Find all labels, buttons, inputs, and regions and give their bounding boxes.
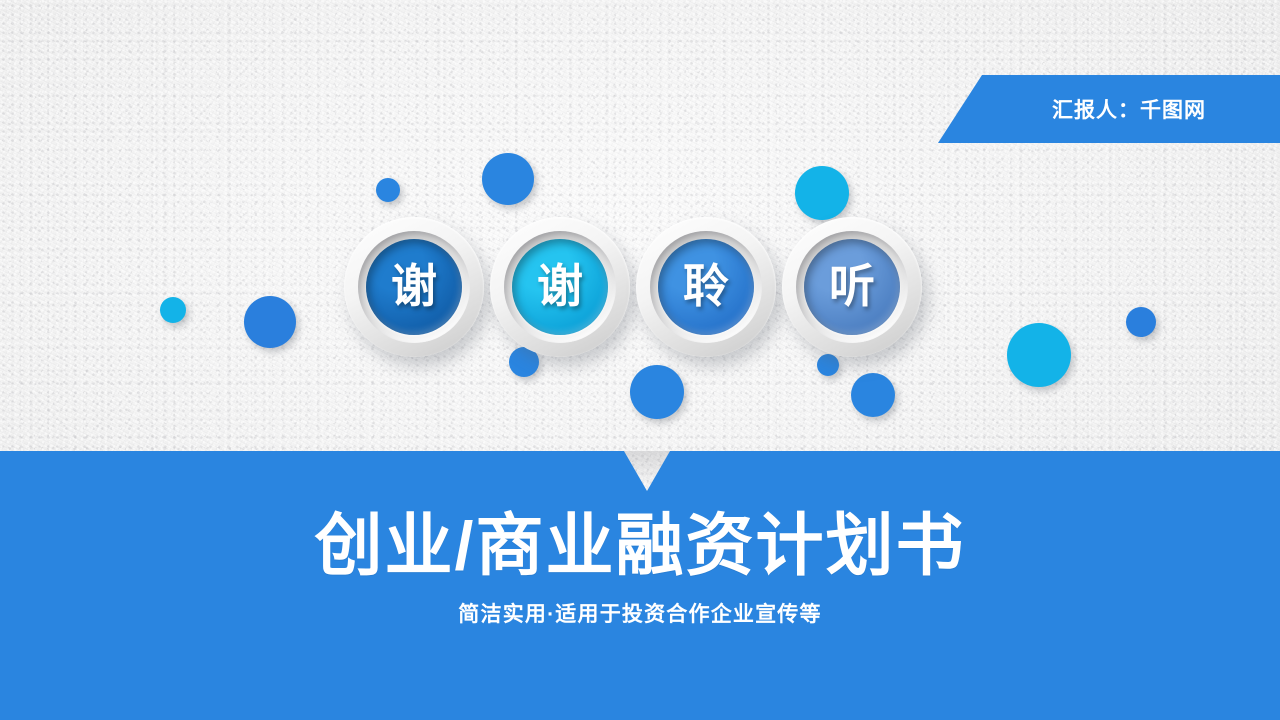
thanks-badge-4: 听 xyxy=(782,217,922,357)
thanks-badge-ring-1: 谢 xyxy=(358,231,470,343)
dot-tiny-blue-right xyxy=(817,354,839,376)
thanks-badge-ring-3: 聆 xyxy=(650,231,762,343)
dot-medium-blue-left xyxy=(244,296,296,348)
dot-medium-blue-center xyxy=(630,365,684,419)
thanks-badge-ring-2: 谢 xyxy=(504,231,616,343)
thanks-badge-disc-4: 听 xyxy=(804,239,900,335)
dot-small-blue-upper-left xyxy=(376,178,400,202)
thanks-badge-3: 聆 xyxy=(636,217,776,357)
title-banner-content: 创业/商业融资计划书 简洁实用·适用于投资合作企业宣传等 xyxy=(0,451,1280,720)
dot-large-cyan-far-right xyxy=(1007,323,1071,387)
dot-medium-cyan-upper-right xyxy=(795,166,849,220)
thanks-badge-char-3: 聆 xyxy=(683,263,729,309)
thanks-badge-disc-1: 谢 xyxy=(366,239,462,335)
thanks-badge-1: 谢 xyxy=(344,217,484,357)
presenter-ribbon-label: 汇报人：千图网 xyxy=(1012,94,1206,124)
thanks-badge-2: 谢 xyxy=(490,217,630,357)
presentation-slide: 谢谢聆听 汇报人：千图网 创业/商业融资计划书 简洁实用·适用于投资合作企业宣传… xyxy=(0,0,1280,720)
dot-medium-blue-right xyxy=(851,373,895,417)
page-subtitle: 简洁实用·适用于投资合作企业宣传等 xyxy=(458,598,821,628)
thanks-badge-char-4: 听 xyxy=(829,263,875,309)
thanks-badge-ring-4: 听 xyxy=(796,231,908,343)
dot-medium-blue-upper-mid xyxy=(482,153,534,205)
presenter-ribbon: 汇报人：千图网 xyxy=(938,75,1280,143)
thanks-badge-char-1: 谢 xyxy=(391,263,437,309)
dot-small-blue-far-right xyxy=(1126,307,1156,337)
dot-small-cyan-left xyxy=(160,297,186,323)
thanks-badge-disc-2: 谢 xyxy=(512,239,608,335)
page-title: 创业/商业融资计划书 xyxy=(315,511,966,582)
thanks-badge-char-2: 谢 xyxy=(537,263,583,309)
thanks-badge-disc-3: 聆 xyxy=(658,239,754,335)
